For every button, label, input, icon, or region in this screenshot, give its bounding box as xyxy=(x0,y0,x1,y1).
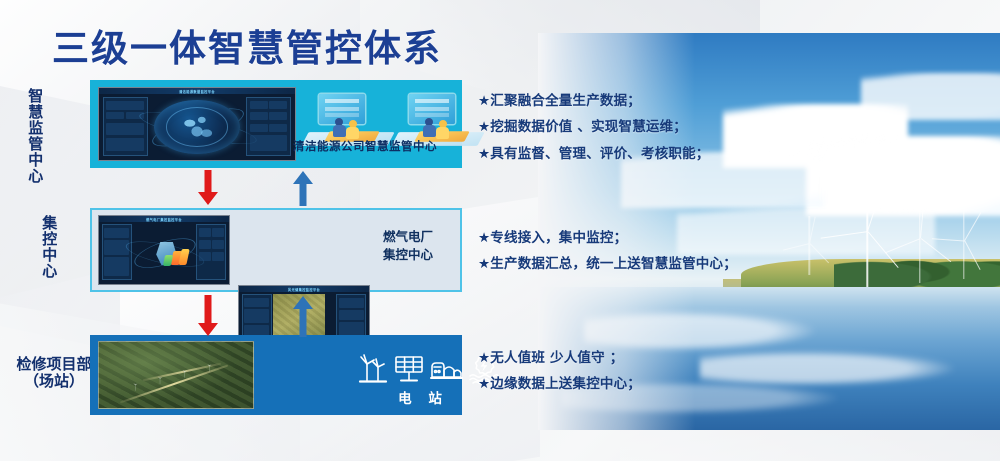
thermal-plant-icon xyxy=(429,353,463,385)
stage-label-monitoring-center: 智慧监管中心 xyxy=(26,88,43,184)
cloud-4 xyxy=(861,73,1000,121)
bullet-item: ★具有监督、管理、评价、考核职能； xyxy=(478,141,710,167)
dashboard-screenshot-top: 清洁能源数据监控平台 xyxy=(98,87,296,161)
bullet-group-control-center: ★专线接入，集中监控； ★生产数据汇总，统一上送智慧监管中心； xyxy=(478,225,737,278)
caption-station: 电 站 xyxy=(358,387,488,407)
terrain-satellite-photo xyxy=(98,341,254,409)
caption-monitoring-center: 清洁能源公司智慧监管中心 xyxy=(270,138,460,154)
dashboard-top-title: 清洁能源数据监控平台 xyxy=(179,89,215,94)
stage-label-line1: 检修项目部 xyxy=(4,356,104,373)
solar-panel-icon xyxy=(393,353,425,385)
stage-label-control-center: 集控中心 xyxy=(40,215,57,279)
stage-label-line2: （场站） xyxy=(4,373,104,390)
bullet-item: ★汇聚融合全量生产数据； xyxy=(478,88,710,114)
bullet-group-monitoring-center: ★汇聚融合全量生产数据； ★挖掘数据价值 、实现智慧运维； ★具有监督、管理、评… xyxy=(478,88,710,167)
page-title: 三级一体智慧管控体系 xyxy=(52,18,442,72)
row-station: 电 站 xyxy=(90,335,462,415)
cloud-2 xyxy=(806,136,1000,215)
caption-control-center-line1: 燃气电厂 xyxy=(360,228,456,246)
slide-root: 三级一体智慧管控体系 智慧监管中心 集控中心 检修项目部 （场站） 清洁能源数据… xyxy=(0,0,1000,461)
row-monitoring-center: 清洁能源数据监控平台 xyxy=(90,80,462,168)
bullet-item: ★无人值班 少人值守 ； xyxy=(478,345,641,371)
bullet-item: ★专线接入，集中监控； xyxy=(478,225,737,251)
bullet-item: ★挖掘数据价值 、实现智慧运维； xyxy=(478,114,710,140)
dashboard-mid-right-title: 风光储集控监控平台 xyxy=(288,287,320,292)
arrow-up-station-to-control xyxy=(292,295,314,337)
dash-left-panel xyxy=(103,97,148,156)
dashboard-screenshot-mid-left: 燃气电厂集控监控平台 xyxy=(98,215,230,285)
row-control-center: 燃气电厂集控监控平台 风光储集控监控平台 xyxy=(90,208,462,292)
caption-control-center: 燃气电厂 集控中心 xyxy=(360,228,456,264)
bullet-item: ★边缘数据上送集控中心； xyxy=(478,371,641,397)
wind-turbine-3 xyxy=(954,208,974,279)
wind-turbine-4 xyxy=(801,216,817,276)
bullet-item: ★生产数据汇总，统一上送智慧监管中心； xyxy=(478,251,737,277)
water-highlight-2 xyxy=(700,351,954,387)
bullet-group-station: ★无人值班 少人值守 ； ★边缘数据上送集控中心； xyxy=(478,345,641,398)
dashboard-mid-left-title: 燃气电厂集控监控平台 xyxy=(146,217,182,222)
caption-control-center-line2: 集控中心 xyxy=(360,246,456,264)
arrow-down-monitor-to-control xyxy=(197,170,219,206)
wind-turbine-icon xyxy=(358,353,388,385)
stage-label-maintenance-department: 检修项目部 （场站） xyxy=(4,356,104,391)
wind-turbine-1 xyxy=(852,184,882,287)
arrow-up-control-to-monitor xyxy=(292,170,314,206)
arrow-down-control-to-station xyxy=(197,295,219,337)
wind-turbine-2 xyxy=(908,200,932,283)
